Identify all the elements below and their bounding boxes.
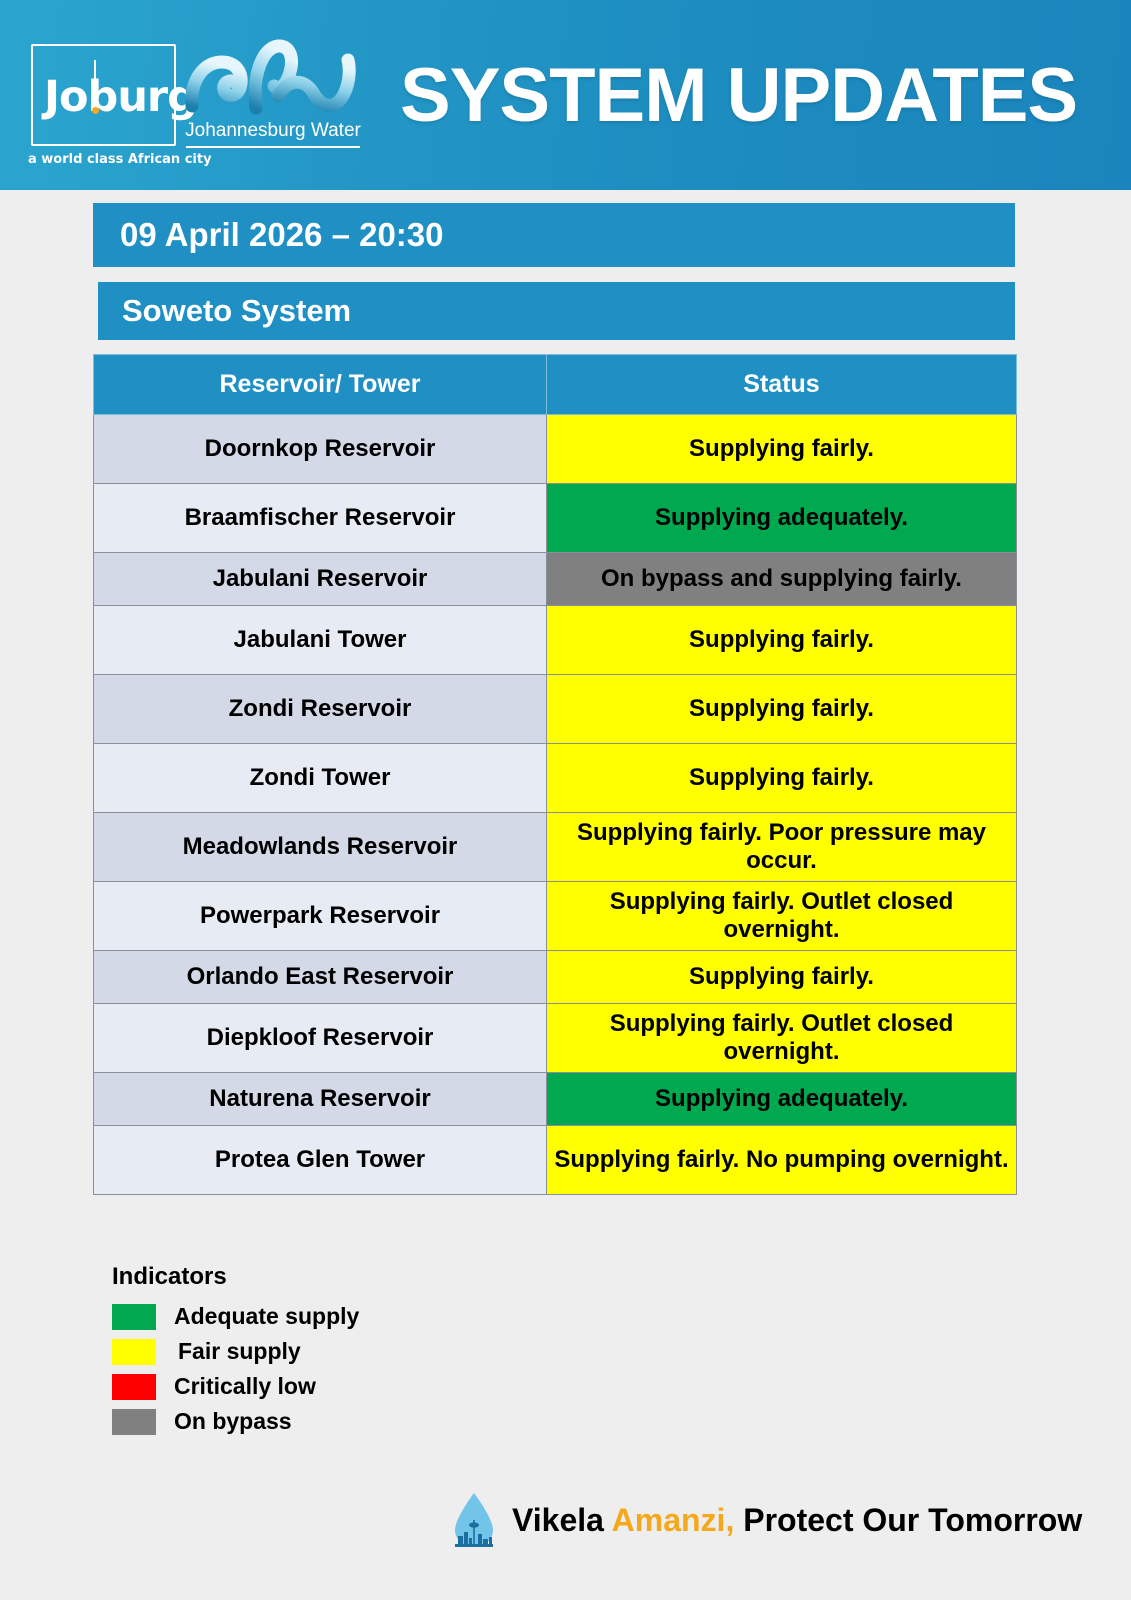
johannesburg-water-logo: Johannesburg Water [182,36,364,156]
indicator-label: Fair supply [178,1338,301,1365]
reservoir-name-cell: Zondi Tower [94,744,547,813]
table-row: Braamfischer ReservoirSupplying adequate… [94,484,1017,553]
status-cell: Supplying fairly. No pumping overnight. [547,1126,1017,1195]
status-cell: Supplying fairly. Poor pressure may occu… [547,813,1017,882]
indicator-label: Critically low [174,1373,316,1400]
indicator-label: On bypass [174,1408,292,1435]
status-cell: Supplying fairly. [547,675,1017,744]
status-cell: Supplying fairly. [547,606,1017,675]
table-row: Powerpark ReservoirSupplying fairly. Out… [94,882,1017,951]
table-row: Zondi ReservoirSupplying fairly. [94,675,1017,744]
date-banner: 09 April 2026 – 20:30 [93,203,1015,267]
status-cell: Supplying adequately. [547,1073,1017,1126]
reservoir-name-cell: Jabulani Reservoir [94,553,547,606]
footer-text: Vikela Amanzi, Protect Our Tomorrow [512,1502,1082,1539]
reservoir-name-cell: Naturena Reservoir [94,1073,547,1126]
table-row: Naturena ReservoirSupplying adequately. [94,1073,1017,1126]
status-cell: Supplying adequately. [547,484,1017,553]
water-wave-icon [182,36,364,118]
reservoir-name-cell: Jabulani Tower [94,606,547,675]
reservoir-name-cell: Diepkloof Reservoir [94,1004,547,1073]
table-row: Jabulani ReservoirOn bypass and supplyin… [94,553,1017,606]
reservoir-name-cell: Braamfischer Reservoir [94,484,547,553]
reservoir-name-cell: Protea Glen Tower [94,1126,547,1195]
table-row: Orlando East ReservoirSupplying fairly. [94,951,1017,1004]
status-cell: Supplying fairly. Outlet closed overnigh… [547,882,1017,951]
status-cell: Supplying fairly. [547,415,1017,484]
indicator-item: Critically low [112,1369,532,1404]
indicator-label: Adequate supply [174,1303,359,1330]
page-header: Joburg a world class African city Johann… [0,0,1131,190]
column-header-reservoir: Reservoir/ Tower [94,355,547,415]
status-cell: On bypass and supplying fairly. [547,553,1017,606]
footer-slogan: Vikela Amanzi, Protect Our Tomorrow [452,1492,1082,1548]
footer-text-part1: Vikela [512,1502,612,1538]
indicator-swatch [112,1374,156,1400]
indicator-item: Adequate supply [112,1299,532,1334]
indicator-item: Fair supply [112,1334,532,1369]
table-row: Zondi TowerSupplying fairly. [94,744,1017,813]
table-header-row: Reservoir/ Tower Status [94,355,1017,415]
johannesburg-water-name: Johannesburg Water [182,120,364,142]
indicator-item: On bypass [112,1404,532,1439]
reservoir-name-cell: Orlando East Reservoir [94,951,547,1004]
footer-text-highlight: Amanzi, [612,1502,735,1538]
jw-logo-underline [186,146,360,148]
status-cell: Supplying fairly. [547,744,1017,813]
footer-text-part2: Protect Our Tomorrow [734,1502,1082,1538]
indicator-swatch [112,1304,156,1330]
joburg-wordmark: Joburg [44,76,197,119]
joburg-logo: Joburg a world class African city [28,30,193,170]
reservoir-name-cell: Zondi Reservoir [94,675,547,744]
column-header-status: Status [547,355,1017,415]
table-row: Meadowlands ReservoirSupplying fairly. P… [94,813,1017,882]
water-droplet-skyline-icon [452,1492,496,1548]
status-cell: Supplying fairly. Outlet closed overnigh… [547,1004,1017,1073]
table-row: Jabulani TowerSupplying fairly. [94,606,1017,675]
reservoir-name-cell: Powerpark Reservoir [94,882,547,951]
indicators-list: Adequate supplyFair supplyCritically low… [112,1299,532,1439]
indicators-title: Indicators [112,1263,532,1291]
reservoir-name-cell: Meadowlands Reservoir [94,813,547,882]
page-title: SYSTEM UPDATES [400,58,1077,134]
table-row: Doornkop ReservoirSupplying fairly. [94,415,1017,484]
indicator-swatch [112,1339,156,1365]
indicator-swatch [112,1409,156,1435]
reservoir-status-table: Reservoir/ Tower Status Doornkop Reservo… [93,354,1017,1195]
reservoir-name-cell: Doornkop Reservoir [94,415,547,484]
system-banner: Soweto System [98,282,1015,340]
table-row: Protea Glen TowerSupplying fairly. No pu… [94,1126,1017,1195]
status-cell: Supplying fairly. [547,951,1017,1004]
joburg-logo-dot-icon [92,107,99,114]
indicators-legend: Indicators Adequate supplyFair supplyCri… [112,1263,532,1439]
table-row: Diepkloof ReservoirSupplying fairly. Out… [94,1004,1017,1073]
table-body: Doornkop ReservoirSupplying fairly.Braam… [94,415,1017,1195]
